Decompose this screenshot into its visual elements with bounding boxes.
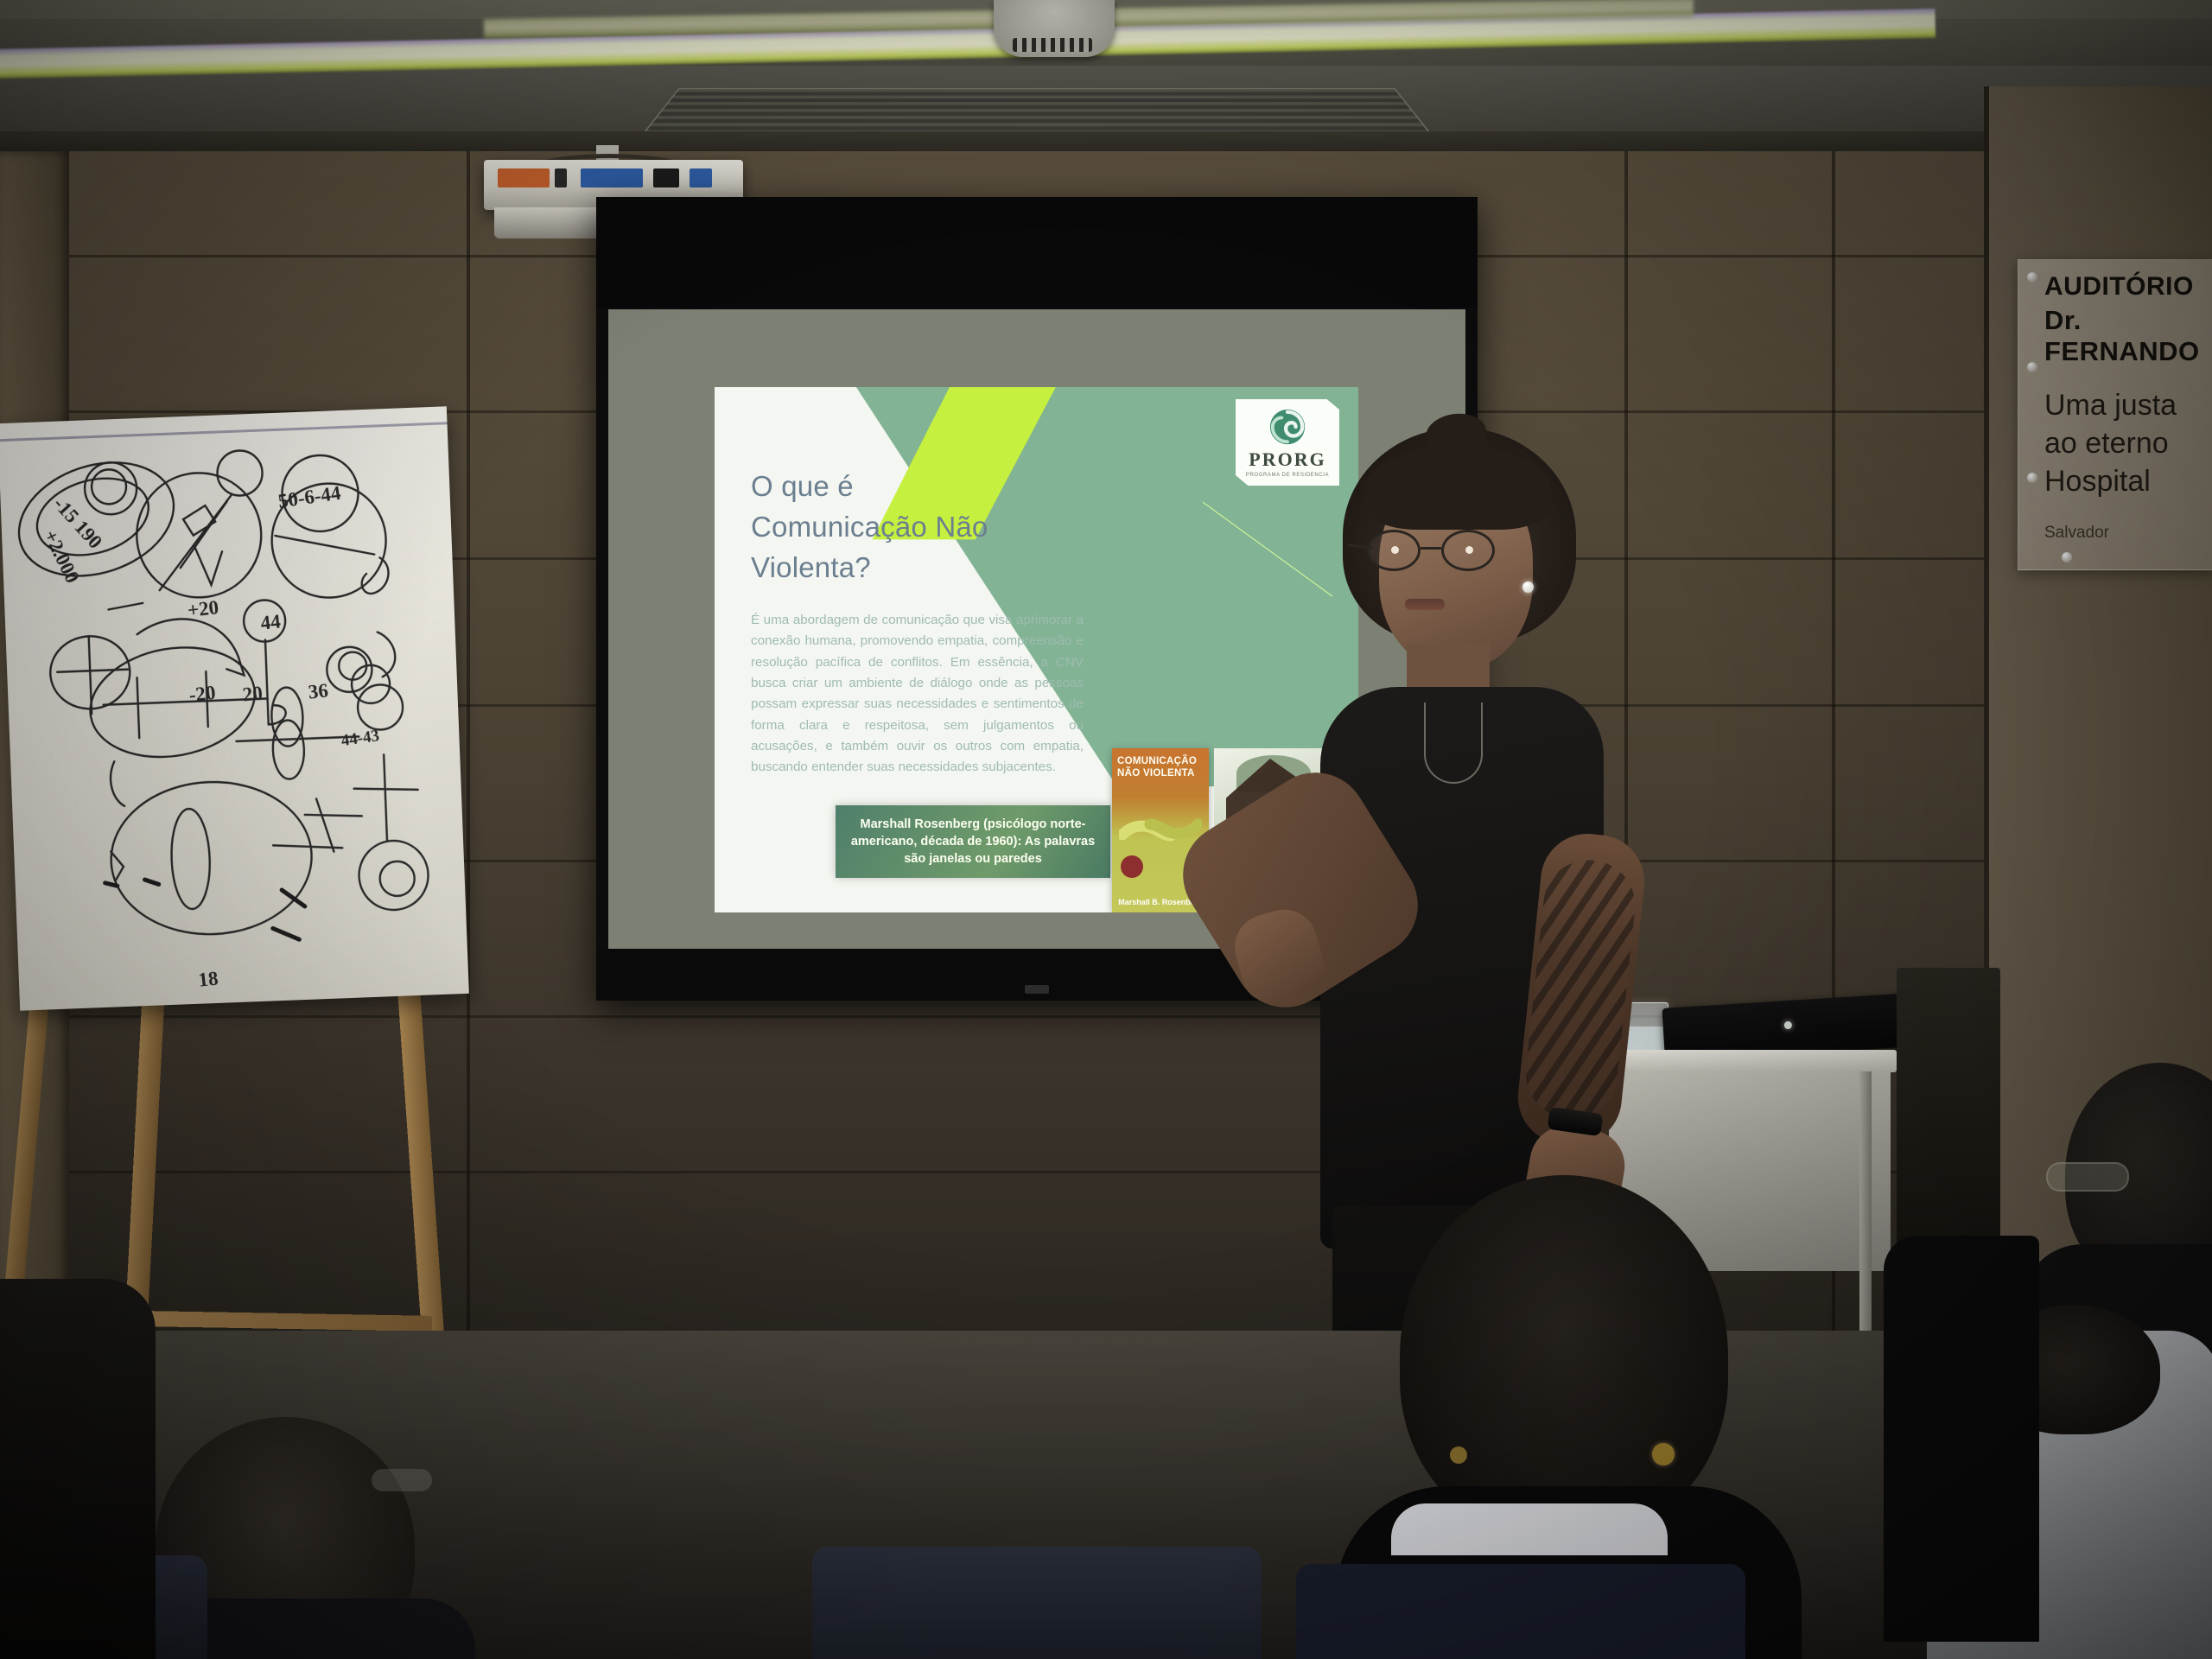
audience-head-center (1400, 1175, 1728, 1538)
audience-earring-left (1450, 1446, 1467, 1464)
plaque-line1: AUDITÓRIO (2044, 272, 2212, 302)
slide-title-line-2: Comunicação Não (751, 507, 1062, 548)
slide-quote-box: Marshall Rosenberg (psicólogo norte-amer… (836, 805, 1110, 878)
laptop-indicator-light (1784, 1021, 1793, 1030)
slide-title: O que é Comunicação Não Violenta? (751, 467, 1062, 588)
chair-center (812, 1547, 1262, 1659)
audience-glasses-right (2046, 1162, 2129, 1192)
wall-plaque: AUDITÓRIO Dr. FERNANDO Uma justa ao eter… (2018, 259, 2212, 570)
svg-text:20: 20 (242, 682, 264, 705)
book-seal-badge (1121, 855, 1143, 878)
svg-text:36: 36 (307, 679, 329, 702)
projector-ports (498, 168, 729, 188)
chair-center-right (1296, 1564, 1745, 1659)
svg-text:18: 18 (197, 967, 219, 990)
audience-arm-far-right (1884, 1236, 2039, 1642)
svg-text:44-43: 44-43 (340, 727, 380, 750)
book-title-line-2: NÃO VIOLENTA (1117, 767, 1204, 779)
book-title: COMUNICAÇÃO NÃO VIOLENTA (1117, 755, 1204, 779)
svg-text:50-6-44: 50-6-44 (276, 482, 342, 512)
presenter-glasses (1367, 530, 1531, 571)
slide-title-line-1: O que é (751, 467, 1062, 507)
plaque-line2: Dr. FERNANDO (2044, 305, 2212, 367)
screen-top-bar (596, 197, 1478, 308)
audience-glasses-left (372, 1469, 432, 1491)
plaque-body-line-3: Hospital (2044, 462, 2212, 500)
slide-title-line-3: Violenta? (751, 548, 1062, 588)
slide-body-text: É uma abordagem de comunicação que visa … (751, 610, 1084, 779)
audience-earring-right (1652, 1443, 1675, 1465)
smoke-detector-icon (994, 0, 1115, 57)
presenter-necklace (1424, 702, 1483, 784)
equipment-box (1897, 968, 2000, 1262)
plaque-body-line-1: Uma justa (2044, 386, 2212, 424)
plaque-footer: Salvador (2044, 524, 2212, 543)
audience-collar-center (1391, 1503, 1668, 1555)
presenter-mouth (1405, 599, 1445, 610)
svg-text:-20: -20 (188, 682, 216, 706)
presenter-earring (1522, 582, 1534, 593)
audience-silhouette-edge (0, 1279, 156, 1659)
book-title-line-1: COMUNICAÇÃO (1117, 755, 1204, 767)
plaque-body: Uma justa ao eterno Hospital (2044, 386, 2212, 501)
auditorium-scene: AUDITÓRIO Dr. FERNANDO Uma justa ao eter… (0, 0, 2212, 1659)
screen-pull-nub (1025, 985, 1049, 994)
presenter-table-top (1603, 1050, 1897, 1072)
svg-text:44: 44 (259, 610, 282, 633)
svg-text:+20: +20 (187, 596, 220, 621)
flipchart-sketch: 50-6-44 +20 44 -20 20 36 18 +2.000 -15 1… (0, 406, 469, 1010)
plaque-body-line-2: ao eterno (2044, 424, 2212, 462)
flipchart-paper: 50-6-44 +20 44 -20 20 36 18 +2.000 -15 1… (0, 406, 469, 1010)
presenter-hair-front (1365, 447, 1551, 530)
